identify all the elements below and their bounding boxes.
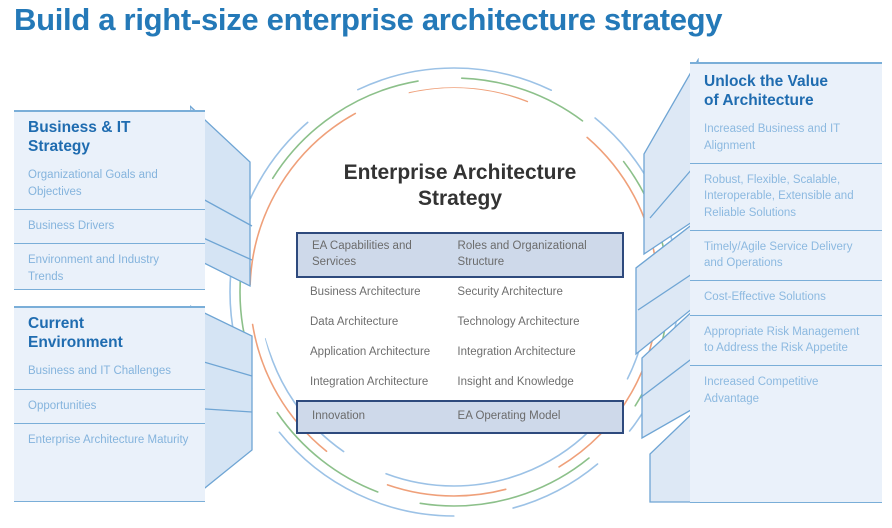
panel-top-rule xyxy=(690,62,882,64)
panel-heading-unlock-value: Unlock the Value of Architecture xyxy=(690,62,882,110)
panel-unlock-value-of-architecture[interactable]: Unlock the Value of Architecture Increas… xyxy=(690,62,882,503)
panel-row-organizational-goals[interactable]: Organizational Goals and Objectives xyxy=(14,156,205,209)
panel-heading-current-environment: Current Environment xyxy=(14,306,205,352)
center-cell-security-architecture: Security Architecture xyxy=(457,285,624,301)
panel-bottom-rule xyxy=(14,501,205,503)
page-title: Build a right-size enterprise architectu… xyxy=(14,2,744,39)
center-row-business-security[interactable]: Business Architecture Security Architect… xyxy=(296,278,624,308)
panel-row-cost-effective-solutions[interactable]: Cost-Effective Solutions xyxy=(690,280,882,314)
center-row-application-integration[interactable]: Application Architecture Integration Arc… xyxy=(296,338,624,368)
center-cell-innovation: Innovation xyxy=(298,409,458,425)
center-cell-data-architecture: Data Architecture xyxy=(296,315,457,331)
panel-row-timely-agile-service[interactable]: Timely/Agile Service Delivery and Operat… xyxy=(690,230,882,281)
panel-row-business-it-challenges[interactable]: Business and IT Challenges xyxy=(14,352,205,388)
panel-top-rule xyxy=(14,110,205,112)
panel-bottom-rule xyxy=(14,289,205,291)
center-title-enterprise-architecture-strategy: Enterprise Architecture Strategy xyxy=(288,160,632,213)
center-row-data-technology[interactable]: Data Architecture Technology Architectur… xyxy=(296,308,624,338)
panel-row-ea-maturity[interactable]: Enterprise Architecture Maturity xyxy=(14,423,205,457)
center-cell-business-architecture: Business Architecture xyxy=(296,285,457,301)
diagram-canvas: Build a right-size enterprise architectu… xyxy=(0,0,892,528)
panel-row-business-drivers[interactable]: Business Drivers xyxy=(14,209,205,243)
center-cell-technology-architecture: Technology Architecture xyxy=(457,315,624,331)
center-cell-integration-architecture-2: Integration Architecture xyxy=(296,375,457,391)
center-cell-integration-architecture: Integration Architecture xyxy=(457,345,624,361)
center-cell-insight-knowledge: Insight and Knowledge xyxy=(457,375,624,391)
center-cell-ea-operating-model: EA Operating Model xyxy=(458,409,622,425)
center-row-highlighted-bottom[interactable]: Innovation EA Operating Model xyxy=(296,400,624,434)
panel-row-increased-alignment[interactable]: Increased Business and IT Alignment xyxy=(690,110,882,163)
panel-row-competitive-advantage[interactable]: Increased Competitive Advantage xyxy=(690,365,882,416)
panel-row-opportunities[interactable]: Opportunities xyxy=(14,389,205,423)
center-row-integration-insight[interactable]: Integration Architecture Insight and Kno… xyxy=(296,368,624,398)
panel-business-it-strategy[interactable]: Business & IT Strategy Organizational Go… xyxy=(14,110,205,290)
panel-heading-business-it-strategy: Business & IT Strategy xyxy=(14,110,205,156)
panel-bottom-rule xyxy=(690,502,882,504)
panel-current-environment[interactable]: Current Environment Business and IT Chal… xyxy=(14,306,205,502)
center-capability-list: EA Capabilities and Services Roles and O… xyxy=(296,232,624,434)
panel-row-environment-industry-trends[interactable]: Environment and Industry Trends xyxy=(14,243,205,294)
center-cell-application-architecture: Application Architecture xyxy=(296,345,457,361)
panel-row-robust-flexible-solutions[interactable]: Robust, Flexible, Scalable, Interoperabl… xyxy=(690,163,882,230)
center-cell-ea-capabilities: EA Capabilities and Services xyxy=(298,239,458,270)
panel-row-risk-management[interactable]: Appropriate Risk Management to Address t… xyxy=(690,315,882,366)
center-cell-roles-structure: Roles and Organizational Structure xyxy=(458,239,622,270)
panel-top-rule xyxy=(14,306,205,308)
center-row-highlighted-top[interactable]: EA Capabilities and Services Roles and O… xyxy=(296,232,624,278)
